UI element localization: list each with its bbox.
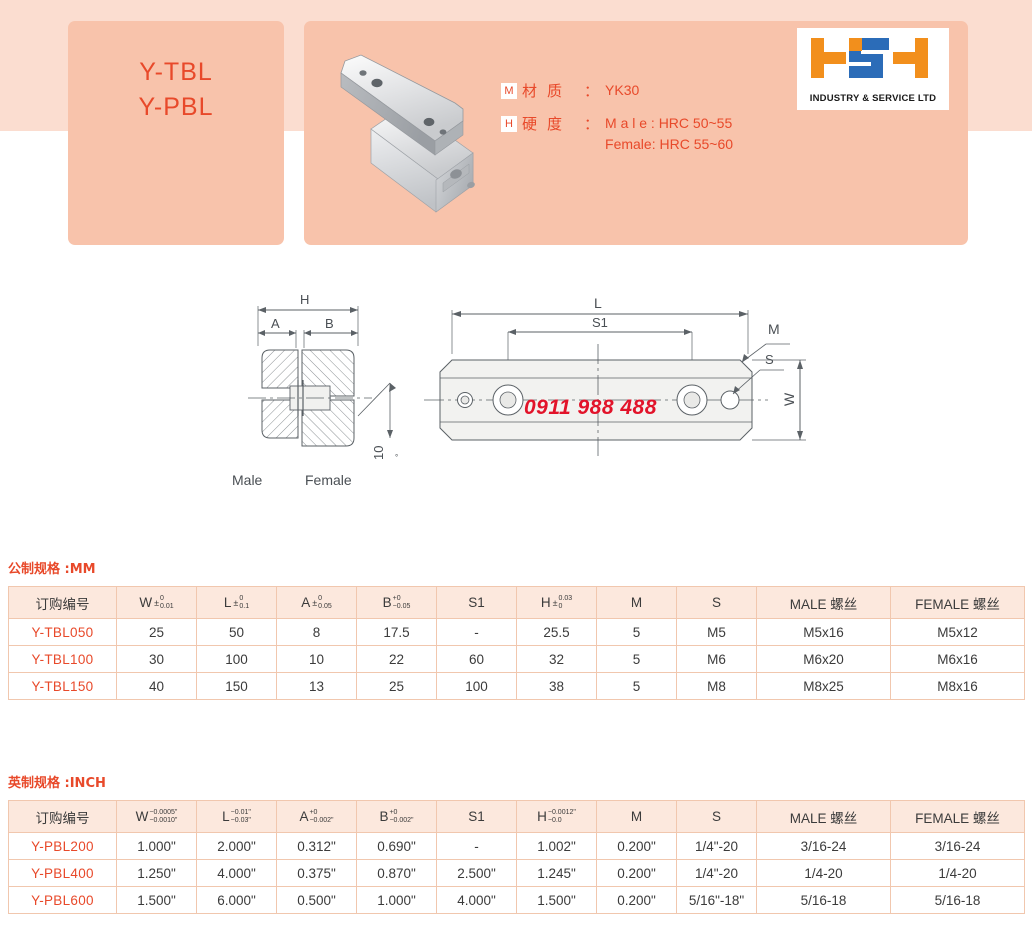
table-cell: M6x20 — [757, 646, 891, 673]
inch-header-row: 订购编号W−0.0005"−0.0010"L−0.01"−0.03"A+0−0.… — [9, 801, 1025, 833]
table-cell: 2.000" — [197, 833, 277, 860]
column-header-W: W±00.01 — [117, 587, 197, 619]
tolerance-stack: −0.0005"−0.0010" — [149, 809, 177, 824]
tolerance-upper: −0.0012" — [548, 809, 576, 817]
metric-body: Y-TBL0502550817.5-25.55M5M5x16M5x12Y-TBL… — [9, 619, 1025, 700]
column-label: W — [136, 809, 149, 824]
table-cell: 100 — [437, 673, 517, 700]
table-row: Y-TBL10030100102260325M6M6x20M6x16 — [9, 646, 1025, 673]
tolerance-lower: −0.002" — [309, 817, 333, 825]
table-row: Y-TBL150401501325100385M8M8x25M8x16 — [9, 673, 1025, 700]
table-cell: 0.312" — [277, 833, 357, 860]
column-header-male: MALE 螺丝 — [757, 801, 891, 833]
table-cell: 4.000" — [197, 860, 277, 887]
column-header-W: W−0.0005"−0.0010" — [117, 801, 197, 833]
hardness-values: M a l e : HRC 50~55 Female: HRC 55~60 — [605, 113, 733, 155]
phone-watermark: 0911 988 488 — [524, 396, 657, 420]
svg-text:M: M — [768, 321, 780, 337]
product-photo — [323, 33, 503, 218]
part-number-cell: Y-TBL100 — [9, 646, 117, 673]
tolerance-stack: +0−0.002" — [389, 809, 413, 824]
tolerance-sign: ± — [154, 598, 159, 608]
table-cell: 6.000" — [197, 887, 277, 914]
tolerance-lower: −0.03" — [231, 817, 251, 825]
logo-mark-hch — [797, 28, 949, 90]
tolerance-upper: −0.0005" — [149, 809, 177, 817]
column-label: L — [224, 595, 232, 610]
tolerance-upper: +0 — [389, 809, 413, 817]
table-cell: 1.000" — [117, 833, 197, 860]
svg-text:°: ° — [395, 453, 398, 462]
tolerance-stack: −0.01"−0.03" — [231, 809, 251, 824]
table-cell: 60 — [437, 646, 517, 673]
column-label: A — [299, 809, 308, 824]
table-cell: M8 — [677, 673, 757, 700]
table-cell: 8 — [277, 619, 357, 646]
column-label: S1 — [468, 595, 485, 610]
tolerance-stack: 00.01 — [160, 595, 174, 610]
tolerance-upper: +0 — [393, 595, 411, 603]
column-label: S — [712, 809, 721, 824]
column-label: M — [631, 595, 642, 610]
tolerance-stack: 0.030 — [559, 595, 573, 610]
table-row: Y-PBL6001.500"6.000"0.500"1.000"4.000"1.… — [9, 887, 1025, 914]
column-header-partno: 订购编号 — [9, 587, 117, 619]
column-label: MALE 螺丝 — [790, 811, 858, 826]
column-header-A: A±00.05 — [277, 587, 357, 619]
part-number-cell: Y-PBL400 — [9, 860, 117, 887]
table-cell: 5 — [597, 619, 677, 646]
tolerance-upper: 0.03 — [559, 595, 573, 603]
table-cell: 25 — [117, 619, 197, 646]
table-cell: M5 — [677, 619, 757, 646]
table-cell: 50 — [197, 619, 277, 646]
logo-tagline: INDUSTRY & SERVICE LTD — [797, 93, 949, 104]
inch-spec-section: 英制规格 :INCH 订购编号W−0.0005"−0.0010"L−0.01"−… — [8, 772, 1024, 914]
table-cell: 1.500" — [517, 887, 597, 914]
tolerance-lower: 0.01 — [160, 603, 174, 611]
table-cell: 32 — [517, 646, 597, 673]
table-cell: 0.690" — [357, 833, 437, 860]
table-cell: M6 — [677, 646, 757, 673]
table-cell: 1.250" — [117, 860, 197, 887]
tolerance-lower: 0 — [559, 603, 573, 611]
column-header-S1: S1 — [437, 801, 517, 833]
metric-spec-table: 订购编号W±00.01L±00.1A±00.05B+0−0.05S1H±0.03… — [8, 586, 1025, 700]
table-cell: 1.002" — [517, 833, 597, 860]
table-cell: 0.200" — [597, 887, 677, 914]
column-header-H: H±0.030 — [517, 587, 597, 619]
metric-spec-section: 公制规格 :MM 订购编号W±00.01L±00.1A±00.05B+0−0.0… — [8, 558, 1024, 700]
cross-section-view: H A B — [232, 292, 398, 488]
table-cell: 1/4-20 — [757, 860, 891, 887]
column-label: L — [222, 809, 230, 824]
column-header-M: M — [597, 801, 677, 833]
column-label: B — [383, 595, 392, 610]
table-row: Y-PBL4001.250"4.000"0.375"0.870"2.500"1.… — [9, 860, 1025, 887]
table-cell: - — [437, 833, 517, 860]
tolerance-lower: 0.1 — [239, 603, 249, 611]
part-number-cell: Y-TBL150 — [9, 673, 117, 700]
column-label: MALE 螺丝 — [790, 597, 858, 612]
series-name-1: Y-TBL — [68, 55, 284, 90]
column-label: H — [541, 595, 551, 610]
column-label: S — [712, 595, 721, 610]
table-cell: 25.5 — [517, 619, 597, 646]
inch-section-title: 英制规格 :INCH — [8, 772, 1024, 791]
column-header-S: S — [677, 587, 757, 619]
tolerance-stack: 00.1 — [239, 595, 249, 610]
table-cell: 1.500" — [117, 887, 197, 914]
tolerance-lower: −0.0010" — [149, 817, 177, 825]
inch-body: Y-PBL2001.000"2.000"0.312"0.690"-1.002"0… — [9, 833, 1025, 914]
table-cell: M8x16 — [891, 673, 1025, 700]
table-cell: 5 — [597, 673, 677, 700]
svg-text:S: S — [765, 352, 774, 367]
series-name-2: Y-PBL — [68, 90, 284, 125]
table-row: Y-TBL0502550817.5-25.55M5M5x16M5x12 — [9, 619, 1025, 646]
table-cell: 10 — [277, 646, 357, 673]
table-cell: 0.375" — [277, 860, 357, 887]
part-number-cell: Y-PBL200 — [9, 833, 117, 860]
column-header-L: L−0.01"−0.03" — [197, 801, 277, 833]
tolerance-upper: 0 — [239, 595, 249, 603]
column-label: S1 — [468, 809, 485, 824]
plan-view: L S1 M — [424, 295, 806, 456]
tolerance-sign: ± — [233, 598, 238, 608]
svg-text:10: 10 — [371, 446, 386, 460]
table-cell: 38 — [517, 673, 597, 700]
tolerance-stack: −0.0012"−0.0 — [548, 809, 576, 824]
tolerance-stack: +0−0.05 — [393, 595, 411, 610]
tolerance-upper: 0 — [318, 595, 332, 603]
material-colon: ： — [584, 80, 599, 101]
table-cell: 0.870" — [357, 860, 437, 887]
tolerance-upper: 0 — [160, 595, 174, 603]
table-cell: 13 — [277, 673, 357, 700]
column-header-M: M — [597, 587, 677, 619]
column-label: 订购编号 — [36, 597, 90, 612]
table-cell: M5x16 — [757, 619, 891, 646]
tolerance-lower: −0.0 — [548, 817, 576, 825]
tolerance-upper: +0 — [309, 809, 333, 817]
column-header-B: B+0−0.05 — [357, 587, 437, 619]
tolerance-upper: −0.01" — [231, 809, 251, 817]
inch-spec-table: 订购编号W−0.0005"−0.0010"L−0.01"−0.03"A+0−0.… — [8, 800, 1025, 914]
table-cell: 0.500" — [277, 887, 357, 914]
column-header-male: MALE 螺丝 — [757, 587, 891, 619]
column-label: 订购编号 — [36, 811, 90, 826]
material-value: YK30 — [605, 80, 639, 101]
table-cell: 5/16-18 — [891, 887, 1025, 914]
svg-text:A: A — [271, 316, 280, 331]
spec-row-material: M 材质 ： YK30 — [501, 80, 733, 101]
column-header-A: A+0−0.002" — [277, 801, 357, 833]
column-label: B — [379, 809, 388, 824]
table-row: Y-PBL2001.000"2.000"0.312"0.690"-1.002"0… — [9, 833, 1025, 860]
table-cell: 0.200" — [597, 833, 677, 860]
tolerance-lower: 0.05 — [318, 603, 332, 611]
part-number-cell: Y-TBL050 — [9, 619, 117, 646]
table-cell: - — [437, 619, 517, 646]
table-cell: M8x25 — [757, 673, 891, 700]
column-header-female: FEMALE 螺丝 — [891, 801, 1025, 833]
table-cell: 3/16-24 — [891, 833, 1025, 860]
table-cell: 22 — [357, 646, 437, 673]
tolerance-stack: 00.05 — [318, 595, 332, 610]
column-label: A — [301, 595, 310, 610]
table-cell: 5 — [597, 646, 677, 673]
column-label: H — [537, 809, 547, 824]
table-cell: M6x16 — [891, 646, 1025, 673]
spec-row-hardness: H 硬度 ： M a l e : HRC 50~55 Female: HRC 5… — [501, 113, 733, 155]
series-title-group: Y-TBL Y-PBL — [68, 55, 284, 125]
table-cell: 3/16-24 — [757, 833, 891, 860]
column-header-B: B+0−0.002" — [357, 801, 437, 833]
part-number-cell: Y-PBL600 — [9, 887, 117, 914]
company-logo: INDUSTRY & SERVICE LTD — [797, 28, 949, 110]
tolerance-lower: −0.002" — [389, 817, 413, 825]
table-cell: 0.200" — [597, 860, 677, 887]
tolerance-sign: ± — [312, 598, 317, 608]
tolerance-lower: −0.05 — [393, 603, 411, 611]
svg-text:Female: Female — [305, 472, 352, 488]
hardness-label: 硬度 — [522, 113, 584, 134]
table-cell: 30 — [117, 646, 197, 673]
column-label: M — [631, 809, 642, 824]
column-label: FEMALE 螺丝 — [915, 597, 1000, 612]
column-header-H: H−0.0012"−0.0 — [517, 801, 597, 833]
table-cell: 1/4"-20 — [677, 860, 757, 887]
svg-text:Male: Male — [232, 472, 263, 488]
column-header-S1: S1 — [437, 587, 517, 619]
table-cell: 1/4-20 — [891, 860, 1025, 887]
table-cell: 4.000" — [437, 887, 517, 914]
tolerance-sign: ± — [553, 598, 558, 608]
column-header-partno: 订购编号 — [9, 801, 117, 833]
material-badge: M — [501, 83, 517, 99]
table-cell: 1.245" — [517, 860, 597, 887]
table-cell: 100 — [197, 646, 277, 673]
column-label: FEMALE 螺丝 — [915, 811, 1000, 826]
hardness-female: Female: HRC 55~60 — [605, 134, 733, 155]
column-header-L: L±00.1 — [197, 587, 277, 619]
svg-text:W: W — [781, 392, 797, 406]
tolerance-stack: +0−0.002" — [309, 809, 333, 824]
hardness-male: M a l e : HRC 50~55 — [605, 113, 733, 134]
table-cell: 40 — [117, 673, 197, 700]
table-cell: 17.5 — [357, 619, 437, 646]
table-cell: 2.500" — [437, 860, 517, 887]
column-header-female: FEMALE 螺丝 — [891, 587, 1025, 619]
table-cell: 5/16"-18" — [677, 887, 757, 914]
table-cell: 1.000" — [357, 887, 437, 914]
material-label: 材质 — [522, 80, 584, 101]
metric-section-title: 公制规格 :MM — [8, 558, 1024, 577]
svg-text:H: H — [300, 292, 309, 307]
metric-header-row: 订购编号W±00.01L±00.1A±00.05B+0−0.05S1H±0.03… — [9, 587, 1025, 619]
column-header-S: S — [677, 801, 757, 833]
hardness-colon: ： — [584, 113, 599, 134]
svg-text:L: L — [594, 295, 602, 311]
table-cell: 150 — [197, 673, 277, 700]
hero-section: Y-TBL Y-PBL — [0, 0, 1032, 250]
spec-list: M 材质 ： YK30 H 硬度 ： M a l e : HRC 50~55 F… — [501, 80, 733, 167]
table-cell: M5x12 — [891, 619, 1025, 646]
technical-drawings: H A B — [0, 288, 1032, 518]
column-label: W — [139, 595, 152, 610]
table-cell: 25 — [357, 673, 437, 700]
table-cell: 1/4"-20 — [677, 833, 757, 860]
svg-text:B: B — [325, 316, 334, 331]
hardness-badge: H — [501, 116, 517, 132]
table-cell: 5/16-18 — [757, 887, 891, 914]
svg-text:S1: S1 — [592, 315, 608, 330]
